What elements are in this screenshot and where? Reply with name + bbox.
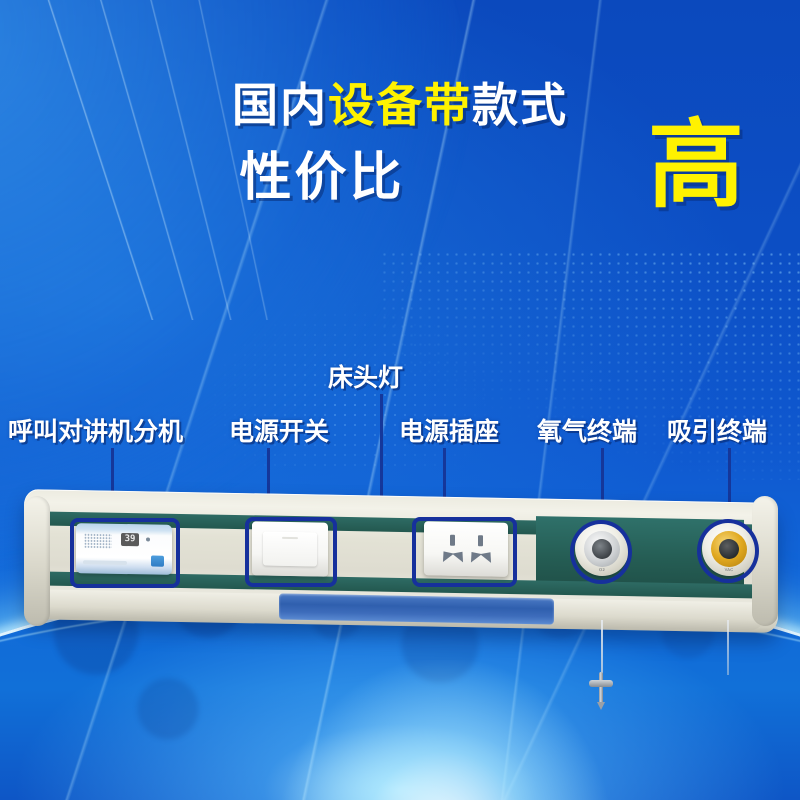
callout-label-bed-lamp: 床头灯 <box>328 358 403 394</box>
callout-label-power-switch: 电源开关 <box>229 412 329 448</box>
headline-part-3: 款式 <box>472 79 568 131</box>
headline-line-2-wrap: 性价比 高 <box>0 150 800 228</box>
suction-hanging-cord <box>727 620 729 675</box>
horizon-glow <box>280 660 610 800</box>
callout-label-power-socket: 电源插座 <box>399 412 499 448</box>
headline-part-1: 国内 <box>232 79 328 131</box>
headline-big-word: 高 <box>648 118 744 214</box>
callout-label-suction-terminal: 吸引终端 <box>667 412 767 448</box>
highlight-box-intercom <box>70 518 180 588</box>
clip-tip <box>597 702 605 710</box>
highlight-box-power-socket <box>412 517 517 587</box>
clip-stem <box>599 672 603 706</box>
highlight-box-power-switch <box>245 517 337 587</box>
poster-canvas: 国内设备带款式 性价比 高 呼叫对讲机分机 电源开关 床头灯 电源插座 氧气终端… <box>0 0 800 800</box>
highlight-circle-suction <box>697 519 759 583</box>
headline-block: 国内设备带款式 性价比 高 <box>0 82 800 228</box>
clip-crossbar <box>589 680 613 687</box>
callout-label-intercom: 呼叫对讲机分机 <box>8 412 183 448</box>
callout-label-oxygen-terminal: 氧气终端 <box>537 412 637 448</box>
headline-line-2: 性价比 <box>0 150 722 207</box>
cord-clip <box>588 672 614 708</box>
panel-end-cap-left <box>24 496 50 626</box>
highlight-circle-oxygen <box>570 520 632 584</box>
headline-part-2: 设备带 <box>328 79 472 131</box>
bed-lamp-diffuser <box>279 593 554 624</box>
